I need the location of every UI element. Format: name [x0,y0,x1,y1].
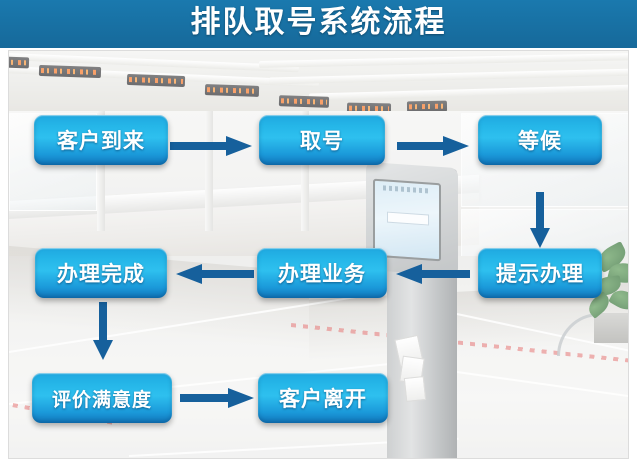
arrow-take-to-wait [397,135,469,157]
counter-led-sign [8,57,29,69]
flow-node-customer-leaves[interactable]: 客户离开 [258,373,388,423]
flow-node-label: 提示办理 [496,258,584,288]
title-banner: 排队取号系统流程 [0,0,637,48]
flow-node-label: 取号 [300,125,344,155]
flow-node-label: 等候 [518,125,562,155]
arrow-complete-to-rate [92,302,114,360]
kiosk-screen-button [387,212,429,226]
counter-led-sign [39,65,101,78]
counter-led-sign [205,84,259,97]
printed-ticket [404,376,426,402]
flow-node-prompt-service[interactable]: 提示办理 [478,248,602,298]
arrow-wait-to-prompt [529,192,551,248]
flow-node-label: 评价满意度 [52,385,152,412]
flow-node-take-number[interactable]: 取号 [259,115,385,165]
flow-node-label: 办理业务 [278,258,366,288]
page-title: 排队取号系统流程 [0,0,637,48]
arrow-rate-to-leaves [180,387,254,409]
flow-node-service-complete[interactable]: 办理完成 [35,248,167,298]
counter-partition [205,111,213,231]
arrow-prompt-to-handle [396,263,470,285]
flow-node-customer-arrives[interactable]: 客户到来 [34,115,168,165]
counter-led-sign [127,74,185,87]
plant-pot [594,313,629,343]
flow-node-handle-business[interactable]: 办理业务 [257,248,387,298]
arrow-arrives-to-take [170,135,252,157]
arrow-handle-to-complete [176,263,254,285]
kiosk-screen-header [383,185,431,193]
flow-node-label: 客户到来 [57,125,145,155]
flowchart-poster: 排队取号系统流程 [0,0,637,467]
counter-led-sign [279,95,329,108]
flow-node-label: 办理完成 [57,258,145,288]
flow-node-label: 客户离开 [279,383,367,413]
flow-node-wait[interactable]: 等候 [478,115,602,165]
flow-node-rate-satisfaction[interactable]: 评价满意度 [32,373,172,423]
